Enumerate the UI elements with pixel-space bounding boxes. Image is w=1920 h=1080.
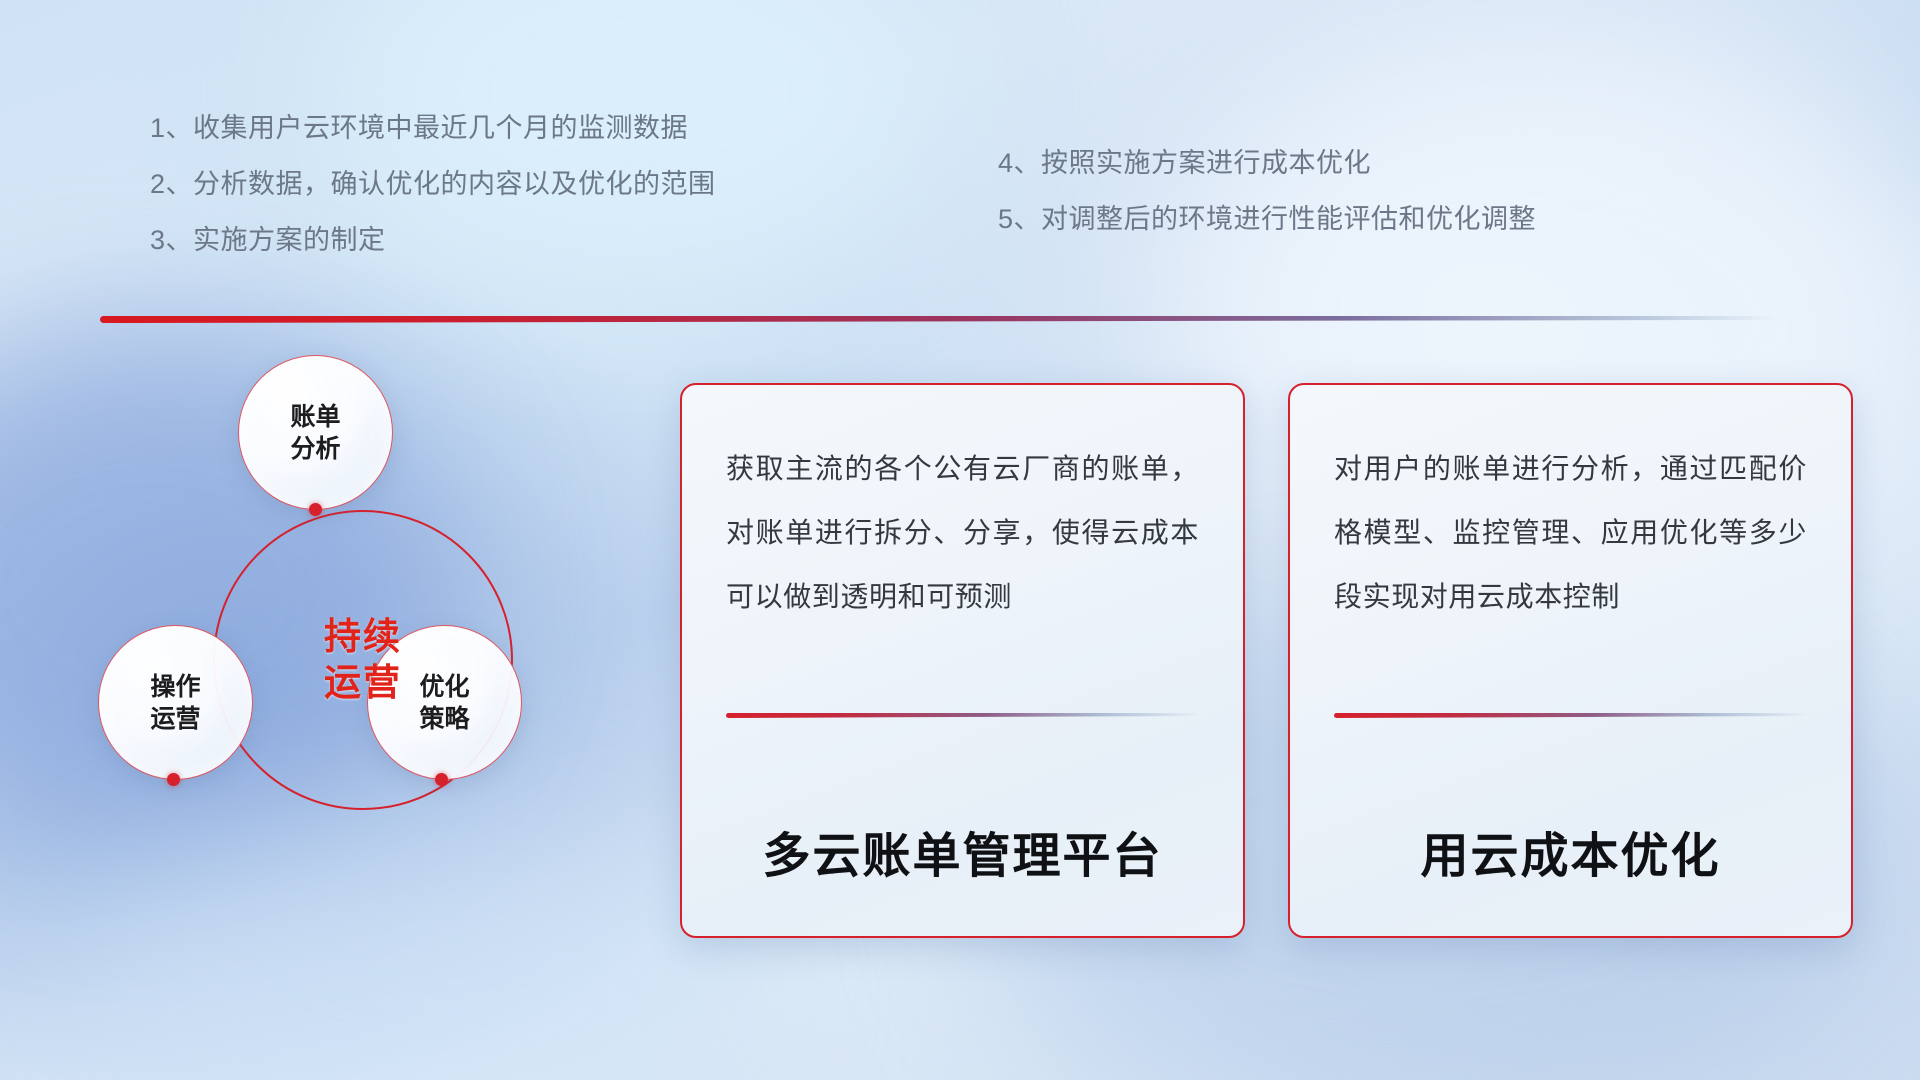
bubble-bill-analysis-line2: 分析 bbox=[290, 433, 340, 465]
bubble-bill-analysis[interactable]: 账单 分析 bbox=[238, 355, 393, 510]
venn-center-line2: 运营 bbox=[324, 660, 402, 706]
bullet-list-left: 1、收集用户云环境中最近几个月的监测数据 2、分析数据，确认优化的内容以及优化的… bbox=[150, 100, 716, 268]
bullet-item-3: 3、实施方案的制定 bbox=[150, 212, 716, 268]
section-divider bbox=[100, 316, 1776, 323]
card-2-title: 用云成本优化 bbox=[1334, 816, 1807, 900]
venn-diagram: 账单 分析 操作 运营 优化 策略 持续 运营 bbox=[95, 355, 615, 915]
bubble-operations-line1: 操作 bbox=[150, 671, 200, 703]
bullet-item-4: 4、按照实施方案进行成本优化 bbox=[998, 135, 1536, 191]
card-2-body: 对用户的账单进行分析，通过匹配价格模型、监控管理、应用优化等多少段实现对用云成本… bbox=[1334, 437, 1807, 687]
card-cloud-cost-optimization[interactable]: 对用户的账单进行分析，通过匹配价格模型、监控管理、应用优化等多少段实现对用云成本… bbox=[1288, 383, 1853, 938]
bullet-item-5: 5、对调整后的环境进行性能评估和优化调整 bbox=[998, 191, 1536, 247]
venn-center-line1: 持续 bbox=[324, 614, 402, 660]
card-1-rule bbox=[726, 713, 1199, 718]
bullet-item-1: 1、收集用户云环境中最近几个月的监测数据 bbox=[150, 100, 716, 156]
connector-dot-left bbox=[167, 773, 180, 786]
bubble-operations-line2: 运营 bbox=[150, 703, 200, 735]
bullet-list-right: 4、按照实施方案进行成本优化 5、对调整后的环境进行性能评估和优化调整 bbox=[998, 135, 1536, 247]
slide-canvas: 1、收集用户云环境中最近几个月的监测数据 2、分析数据，确认优化的内容以及优化的… bbox=[0, 0, 1920, 1080]
card-1-body: 获取主流的各个公有云厂商的账单，对账单进行拆分、分享，使得云成本可以做到透明和可… bbox=[726, 437, 1199, 687]
bullet-item-2: 2、分析数据，确认优化的内容以及优化的范围 bbox=[150, 156, 716, 212]
card-1-title: 多云账单管理平台 bbox=[726, 816, 1199, 900]
bubble-bill-analysis-line1: 账单 bbox=[290, 401, 340, 433]
card-2-rule bbox=[1334, 713, 1807, 718]
card-multi-cloud-billing[interactable]: 获取主流的各个公有云厂商的账单，对账单进行拆分、分享，使得云成本可以做到透明和可… bbox=[680, 383, 1245, 938]
venn-center-label: 持续 运营 bbox=[213, 510, 513, 810]
